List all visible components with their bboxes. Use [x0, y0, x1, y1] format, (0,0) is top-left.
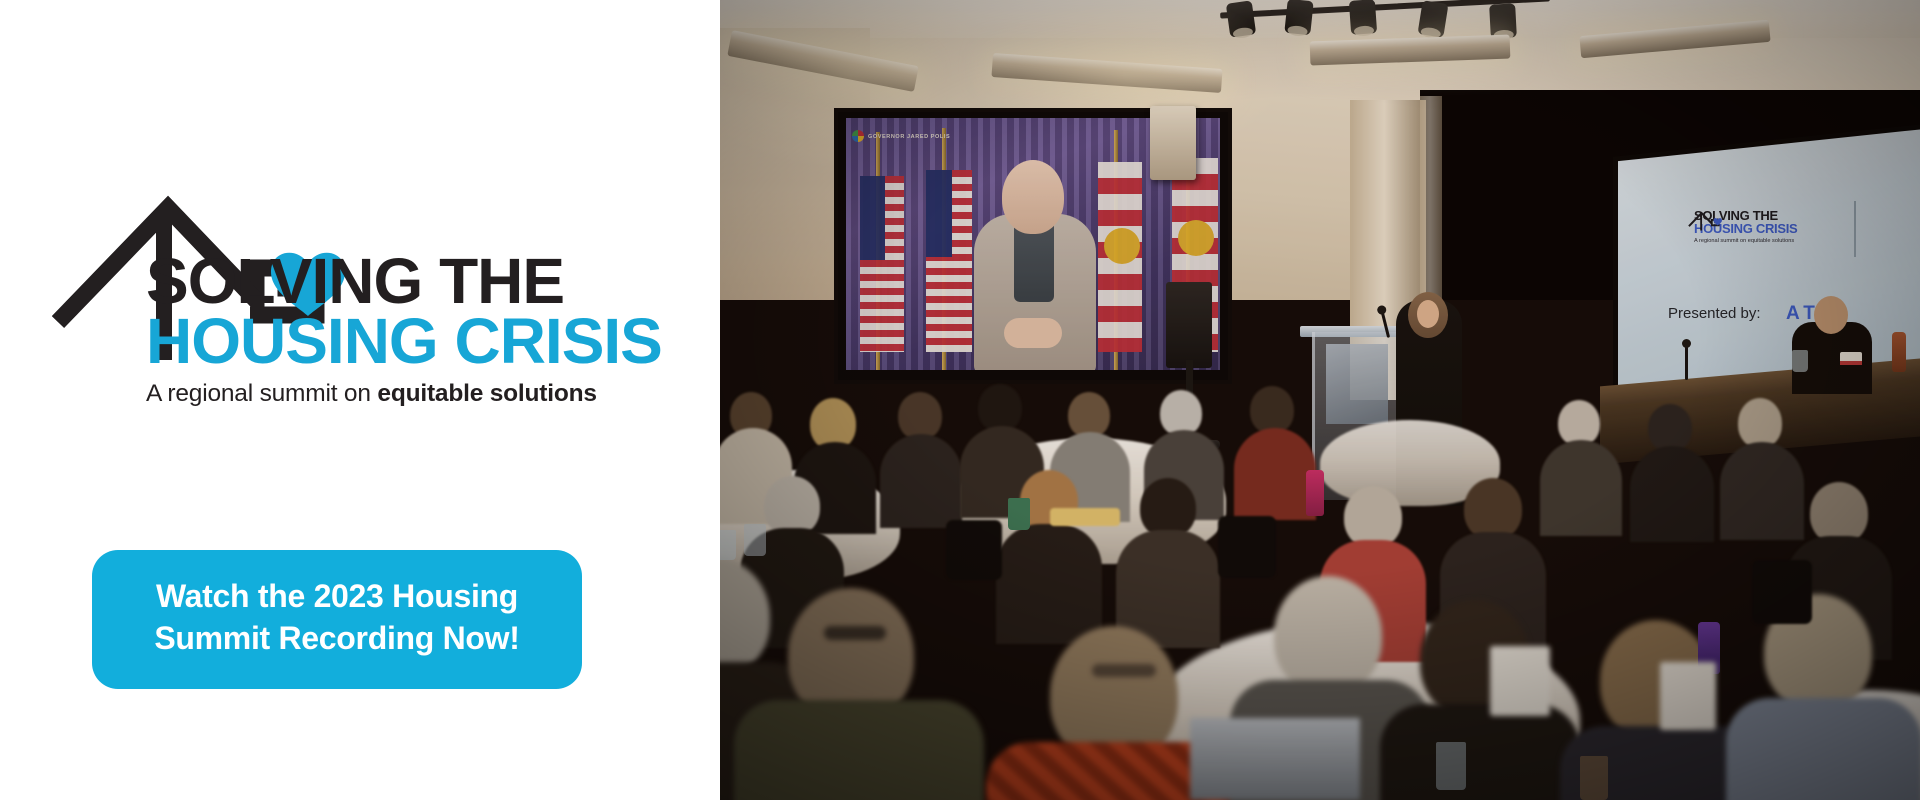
audience-head [898, 392, 942, 440]
audience-body [996, 524, 1102, 644]
cta-line-1: Watch the 2023 Housing [112, 576, 562, 618]
table-tent-card [1660, 662, 1716, 730]
spot-light-icon [1284, 0, 1313, 35]
logo-line-1: SOLVING THE [146, 252, 666, 311]
audience-head [1140, 478, 1196, 538]
brand-logo: SOLVING THE HOUSING CRISIS A regional su… [50, 160, 650, 410]
panel-microphone [1685, 346, 1688, 380]
eyeglasses-icon [824, 626, 886, 640]
food-plate [1050, 508, 1120, 526]
audience-body [1380, 704, 1580, 800]
podium-monitor [1326, 344, 1388, 424]
table-tent-card [1490, 646, 1550, 716]
side-logo-tagline: A regional summit on equitable solutions [1694, 238, 1840, 244]
audience-head [764, 476, 820, 536]
screen-caption: GOVERNOR JARED POLIS [868, 134, 950, 140]
name-badge [1840, 352, 1862, 365]
us-flag-canton [860, 176, 885, 260]
audience-head [1738, 398, 1782, 448]
spot-light-icon [1489, 3, 1517, 38]
us-flag-canton [926, 170, 952, 257]
presented-by-label: Presented by: [1668, 305, 1761, 322]
audience-body [1630, 446, 1714, 542]
chair [1752, 560, 1812, 624]
promo-panel: SOLVING THE HOUSING CRISIS A regional su… [0, 0, 720, 800]
side-screen-content: SOLVING THE HOUSING CRISIS A regional su… [1618, 145, 1920, 389]
audience-head [1344, 486, 1402, 548]
floor-speaker [1166, 282, 1212, 368]
logo-line-2: HOUSING CRISIS [146, 311, 666, 372]
logo-tagline: A regional summit on equitable solutions [146, 379, 666, 410]
logo-wordmark: SOLVING THE HOUSING CRISIS A regional su… [146, 252, 666, 409]
audience-body [880, 434, 962, 528]
drinking-glass [1580, 756, 1608, 800]
eyeglasses-icon [1092, 664, 1156, 677]
podium-speaker-face [1417, 300, 1439, 328]
drinking-glass [1792, 350, 1808, 372]
chair [946, 520, 1002, 580]
spot-light-icon [1349, 0, 1377, 35]
laptop [1190, 718, 1360, 800]
cta-line-2: Summit Recording Now! [112, 618, 562, 660]
house-heart-logo-icon [1688, 207, 1726, 231]
name-badge-bar [1840, 361, 1862, 365]
conference-photo: GOVERNOR JARED POLIS SOLVING THE HOUSING… [720, 0, 1920, 800]
audience-head [1810, 482, 1868, 544]
audience-head [1274, 576, 1382, 694]
water-bottle [1306, 470, 1324, 516]
side-screen-divider [1854, 201, 1856, 257]
colorado-flag [1098, 162, 1142, 352]
audience-body [1726, 698, 1920, 800]
tagline-bold: equitable solutions [377, 380, 596, 407]
colorado-c-logo-icon [852, 130, 864, 142]
drinking-glass [744, 524, 766, 556]
coffee-cup [1008, 498, 1030, 530]
side-screen-logo: SOLVING THE HOUSING CRISIS A regional su… [1680, 209, 1840, 244]
audience-body [1540, 440, 1622, 536]
drinking-glass [720, 530, 736, 560]
audience-head [1648, 404, 1692, 452]
drinking-glass [1436, 742, 1466, 790]
panelist-head [1814, 296, 1848, 334]
audience-head [978, 384, 1022, 432]
audience-body [1720, 442, 1804, 540]
audience-body [1234, 428, 1316, 520]
promo-content: SOLVING THE HOUSING CRISIS A regional su… [50, 160, 690, 410]
us-flag [860, 176, 904, 352]
chair [1218, 516, 1276, 578]
spot-light-icon [1418, 0, 1449, 38]
housing-summit-banner: SOLVING THE HOUSING CRISIS A regional su… [0, 0, 1920, 800]
wall-speaker [1150, 106, 1196, 180]
colorado-c-emblem [1178, 220, 1214, 256]
governor-hands [1004, 318, 1062, 348]
audience-head [1250, 386, 1294, 434]
water-bottle [1892, 332, 1906, 372]
watch-recording-button[interactable]: Watch the 2023 Housing Summit Recording … [92, 550, 582, 689]
audience-body-green-jacket [734, 700, 984, 800]
tagline-prefix: A regional summit on [146, 380, 377, 407]
governor-head [1002, 160, 1064, 234]
colorado-c-emblem [1104, 228, 1140, 264]
audience-head [1464, 478, 1522, 540]
us-flag [926, 170, 972, 352]
